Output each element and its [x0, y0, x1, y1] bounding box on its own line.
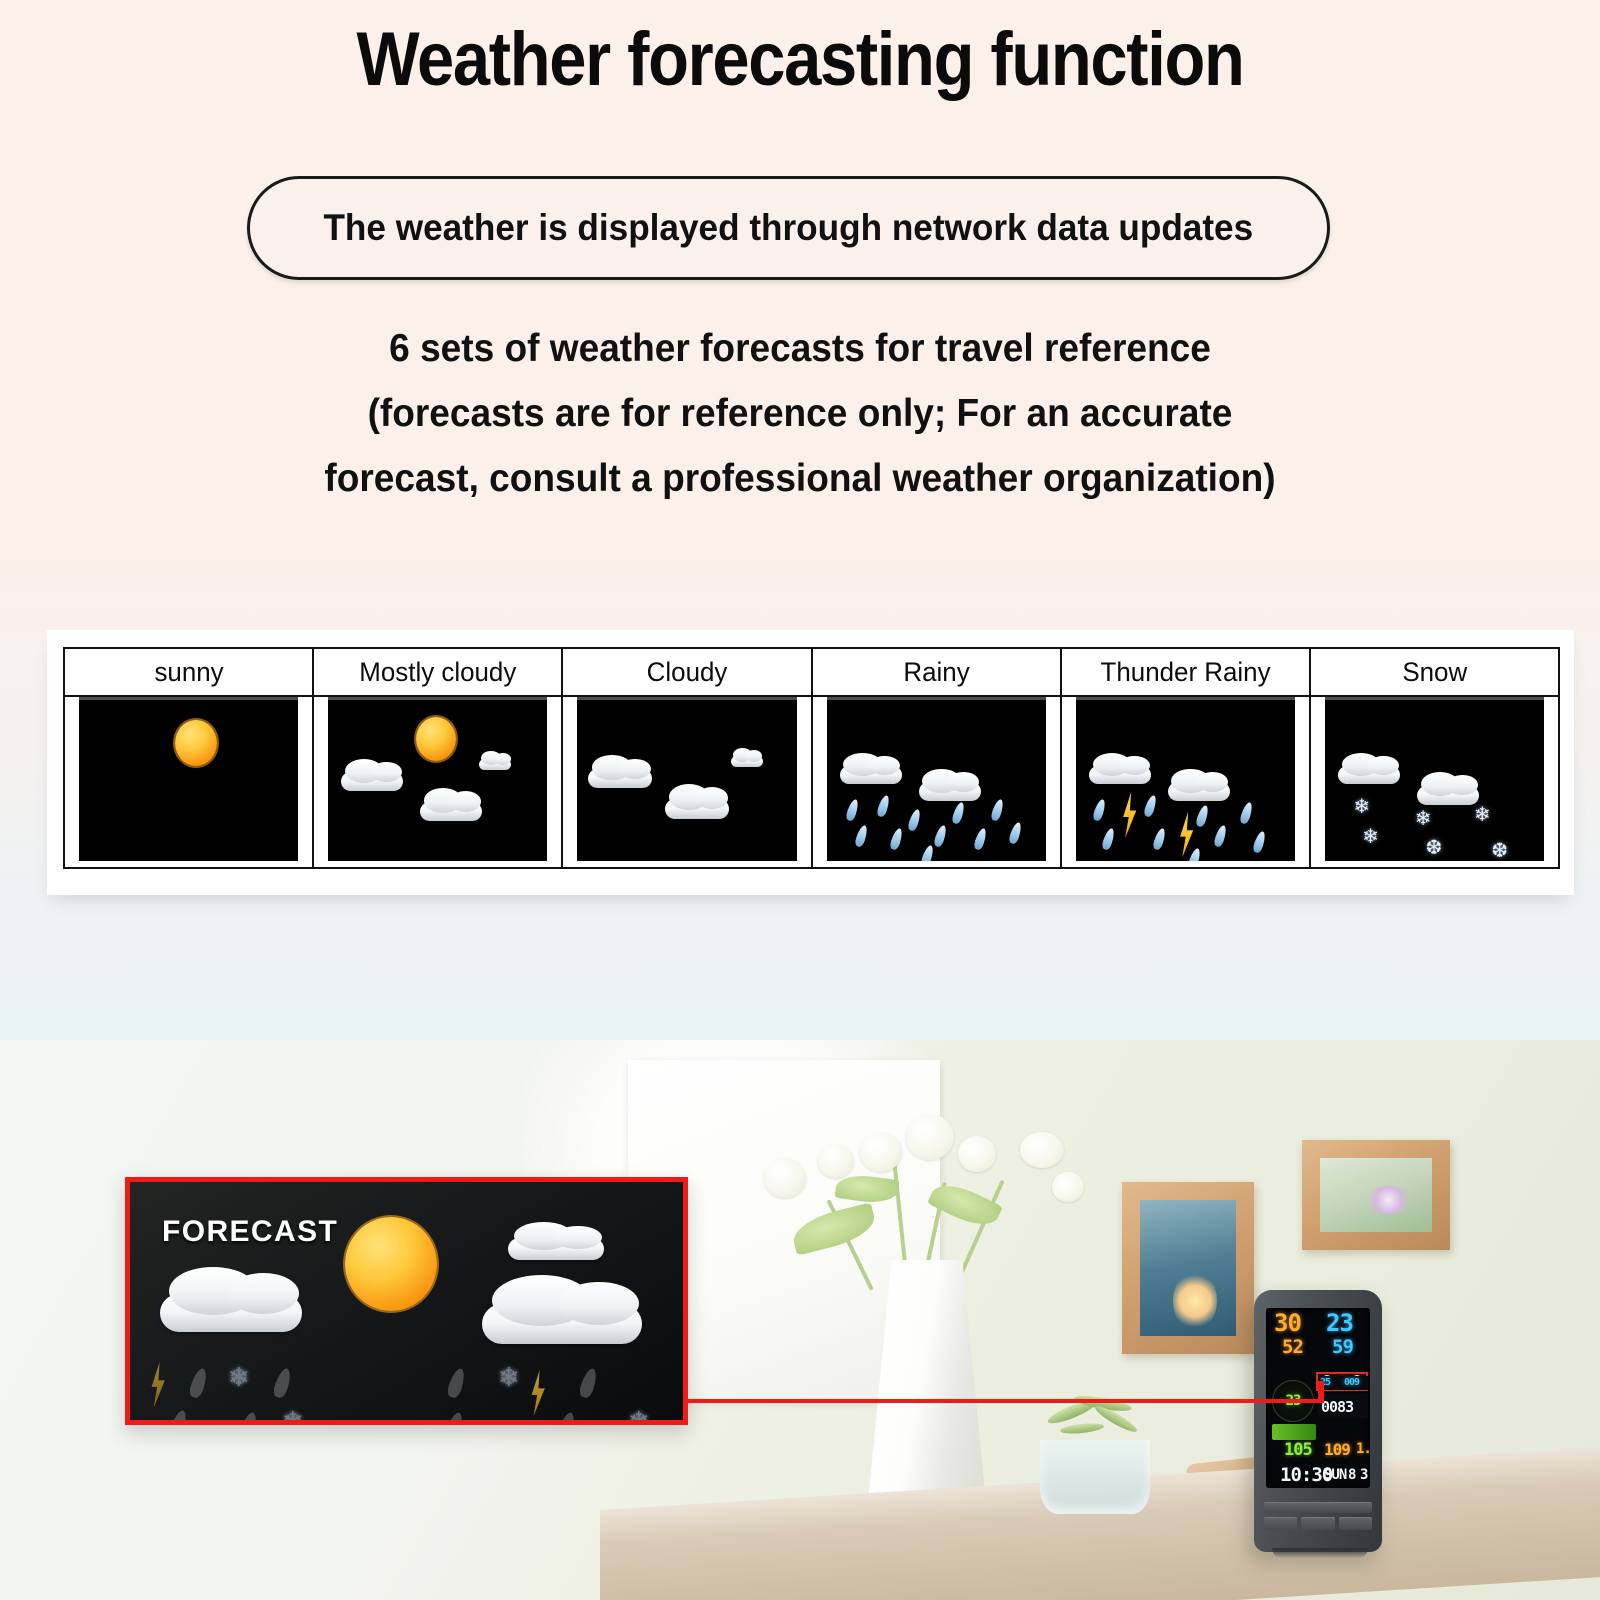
rain-drop-icon	[1007, 821, 1022, 845]
device-month: 3	[1360, 1468, 1367, 1482]
rain-drop-icon	[990, 798, 1005, 822]
rain-drop-icon	[272, 1367, 294, 1400]
rain-drop-icon	[876, 795, 891, 819]
rain-drop-icon	[1151, 827, 1166, 851]
legend-cell-rainy[interactable]: Rainy	[811, 647, 1060, 869]
rain-drop-icon	[950, 801, 965, 825]
reading-b: 109	[1324, 1442, 1350, 1458]
device-button-panel[interactable]	[1264, 1498, 1372, 1538]
snowflake-icon: ❆	[1426, 838, 1443, 858]
rain-drop-icon	[972, 827, 987, 851]
snowflake-icon: ❄	[628, 1408, 650, 1425]
forecast-callout-panel: FORECAST ❄ ❄ ❄ ❄	[125, 1177, 688, 1425]
device-bar-graph	[1272, 1424, 1316, 1440]
description-line-1: 6 sets of weather forecasts for travel r…	[40, 316, 1560, 381]
legend-body-cloudy	[563, 697, 810, 867]
cloud-icon	[1168, 782, 1230, 801]
device-outdoor-block: 23 59	[1318, 1308, 1370, 1370]
legend-body-rainy	[813, 697, 1060, 867]
cloud-icon	[482, 1304, 642, 1344]
legend-cell-mostly-cloudy[interactable]: Mostly cloudy	[312, 647, 561, 869]
framed-picture-blue	[1122, 1182, 1254, 1354]
rain-drop-icon	[168, 1409, 190, 1425]
snowflake-icon: ❄	[1474, 805, 1491, 825]
rain-drop-icon	[1101, 827, 1116, 851]
sun-icon	[416, 717, 456, 761]
rain-drop-icon	[444, 1411, 466, 1425]
flower-bloom	[906, 1114, 954, 1160]
indoor-humidity: 52	[1282, 1338, 1303, 1357]
small-readout-b: 009	[1344, 1378, 1359, 1388]
device-button-row-top[interactable]	[1264, 1502, 1372, 1513]
rain-drop-icon	[907, 808, 922, 832]
device-small-readouts: 25 009	[1318, 1376, 1368, 1390]
description-line-2: (forecasts are for reference only; For a…	[40, 381, 1560, 446]
indoor-temperature: 30	[1274, 1311, 1301, 1335]
legend-label-rainy: Rainy	[903, 657, 969, 688]
framed-picture-green	[1302, 1140, 1450, 1250]
cloud-icon	[588, 769, 652, 788]
legend-cell-cloudy[interactable]: Cloudy	[561, 647, 810, 869]
small-cloud-icon	[479, 759, 511, 770]
weather-tile-cloudy	[577, 697, 796, 861]
picture-mat	[1140, 1200, 1236, 1336]
rain-drop-icon	[1252, 831, 1267, 855]
device-button-memory[interactable]	[1339, 1517, 1372, 1530]
rain-drop-icon	[933, 824, 948, 848]
picture-image-hydrangea	[1320, 1158, 1432, 1232]
rain-drop-icon	[1239, 801, 1254, 825]
cloud-icon	[840, 766, 902, 784]
device-top-readouts: 30 52 23 59	[1266, 1308, 1370, 1370]
reading-c: 1.	[1356, 1442, 1370, 1456]
weather-legend-table: sunny Mostly cloudy	[63, 647, 1560, 869]
cloud-icon	[919, 782, 981, 801]
picture-image-dragonfly	[1140, 1200, 1236, 1336]
picture-mat	[1320, 1158, 1432, 1232]
snowflake-icon: ❆	[1491, 841, 1508, 861]
rain-drop-icon	[556, 1411, 578, 1425]
forecast-label: FORECAST	[162, 1215, 338, 1249]
snowflake-icon: ❄	[282, 1408, 304, 1425]
description-block: 6 sets of weather forecasts for travel r…	[0, 316, 1600, 511]
rain-drop-icon	[446, 1367, 468, 1400]
cloud-icon	[1089, 766, 1151, 784]
legend-label-sunny: sunny	[154, 657, 223, 688]
rain-drop-icon	[188, 1367, 210, 1400]
legend-header-rainy: Rainy	[813, 649, 1060, 697]
rain-drop-icon	[845, 798, 860, 822]
snowflake-icon: ❄	[1415, 809, 1432, 829]
subtitle-pill: The weather is displayed through network…	[247, 176, 1330, 280]
callout-connector-line	[688, 1399, 1324, 1403]
weather-legend-panel: sunny Mostly cloudy	[47, 630, 1574, 895]
legend-cell-snow[interactable]: Snow ❄ ❄ ❄ ❄ ❆ ❆	[1309, 647, 1560, 869]
small-cloud-icon	[508, 1238, 604, 1260]
sun-icon	[345, 1217, 437, 1311]
rain-drop-icon	[1213, 824, 1228, 848]
rain-drop-icon	[920, 844, 935, 861]
legend-body-snow: ❄ ❄ ❄ ❄ ❆ ❆	[1311, 697, 1558, 867]
small-cloud-icon	[731, 756, 763, 767]
device-day: 8	[1348, 1468, 1355, 1482]
subtitle-pill-label: The weather is displayed through network…	[324, 207, 1254, 249]
device-button-mode[interactable]	[1301, 1517, 1334, 1530]
legend-label-mostly-cloudy: Mostly cloudy	[359, 657, 516, 688]
weather-tile-sunny	[79, 697, 298, 861]
legend-label-snow: Snow	[1402, 657, 1467, 688]
rain-drop-icon	[238, 1411, 260, 1425]
legend-body-mostly-cloudy	[314, 697, 561, 867]
weather-tile-rainy	[827, 697, 1046, 861]
cloud-icon	[1417, 786, 1479, 805]
legend-body-thunder-rainy	[1062, 697, 1309, 867]
legend-header-cloudy: Cloudy	[563, 649, 810, 697]
glass-plant-pot	[1040, 1440, 1150, 1514]
snowflake-icon: ❄	[1362, 827, 1379, 847]
cloud-icon	[341, 772, 403, 791]
cloud-icon	[160, 1294, 302, 1332]
snowflake-icon: ❄	[498, 1364, 520, 1390]
device-button-channel[interactable]	[1264, 1517, 1297, 1530]
device-weekday: SUN	[1324, 1468, 1346, 1482]
legend-header-mostly-cloudy: Mostly cloudy	[314, 649, 561, 697]
callout-connector-hook	[1318, 1381, 1324, 1403]
device-stand	[1272, 1548, 1368, 1558]
legend-label-thunder-rainy: Thunder Rainy	[1100, 657, 1270, 688]
cloud-icon	[1338, 766, 1400, 784]
device-button-row-bottom[interactable]	[1264, 1517, 1372, 1530]
flower-bloom	[764, 1158, 806, 1198]
device-pressure-block: 0083	[1318, 1394, 1368, 1418]
cloud-icon	[420, 802, 482, 821]
snowflake-icon: ❄	[228, 1364, 250, 1390]
snowflake-icon: ❄	[1353, 797, 1370, 817]
legend-header-snow: Snow	[1311, 649, 1558, 697]
description-line-3: forecast, consult a professional weather…	[40, 446, 1560, 511]
rain-drop-icon	[1186, 847, 1201, 861]
pressure-value: 0083	[1321, 1400, 1353, 1415]
flower-bloom	[958, 1136, 996, 1172]
device-indoor-block: 30 52	[1266, 1308, 1318, 1370]
rain-drop-icon	[854, 824, 869, 848]
outdoor-humidity: 59	[1332, 1338, 1353, 1357]
rain-drop-icon	[889, 827, 904, 851]
legend-body-sunny	[65, 697, 312, 867]
flower-bloom	[860, 1132, 902, 1172]
weather-tile-mostly-cloudy	[328, 697, 547, 861]
rain-drop-icon	[1143, 795, 1158, 819]
device-button-alarm[interactable]	[1264, 1502, 1372, 1513]
outdoor-temperature: 23	[1326, 1311, 1353, 1335]
page-title: Weather forecasting function	[96, 22, 1504, 98]
legend-label-cloudy: Cloudy	[647, 657, 728, 688]
rain-drop-icon	[1195, 804, 1210, 828]
weather-tile-snow: ❄ ❄ ❄ ❄ ❆ ❆	[1325, 697, 1544, 861]
rain-drop-icon	[1092, 798, 1107, 822]
legend-cell-sunny[interactable]: sunny	[63, 647, 312, 869]
legend-cell-thunder-rainy[interactable]: Thunder Rainy	[1060, 647, 1309, 869]
legend-header-thunder-rainy: Thunder Rainy	[1062, 649, 1309, 697]
weather-station-device[interactable]: 30 52 23 59 23 0083 25 009 105 109 1. 1	[1254, 1290, 1382, 1552]
rain-drop-icon	[578, 1367, 600, 1400]
sun-icon	[175, 720, 217, 766]
legend-header-sunny: sunny	[65, 649, 312, 697]
flower-bloom	[1052, 1172, 1084, 1202]
cloud-icon	[665, 799, 729, 819]
reading-a: 105	[1284, 1442, 1312, 1459]
flower-bloom	[818, 1144, 854, 1178]
flower-bloom	[1020, 1132, 1064, 1168]
weather-tile-thunder-rainy	[1076, 697, 1295, 861]
